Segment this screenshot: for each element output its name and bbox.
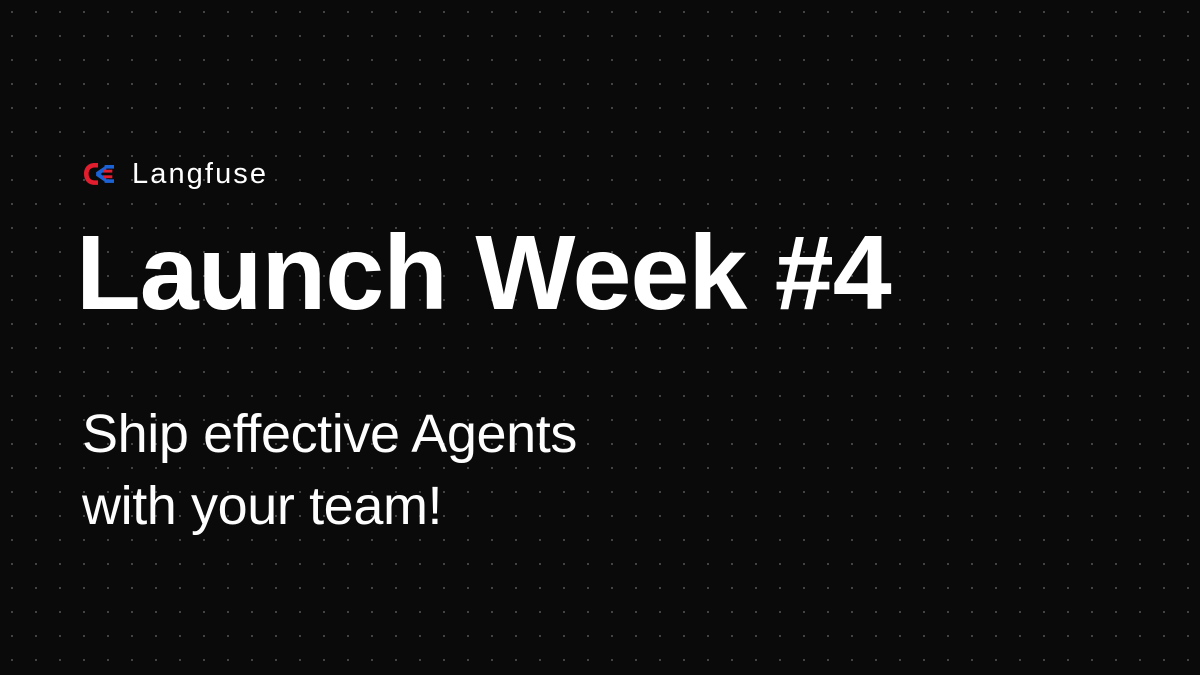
brand-name: Langfuse xyxy=(132,160,268,189)
brand-lockup: Langfuse xyxy=(82,152,268,196)
hero-subtitle-line-1: Ship effective Agents xyxy=(82,398,577,470)
launch-week-hero-slide: Langfuse Launch Week #4 Ship effective A… xyxy=(0,0,1200,675)
hero-content: Langfuse Launch Week #4 Ship effective A… xyxy=(82,0,1142,675)
langfuse-logo-icon xyxy=(82,161,116,187)
page-title: Launch Week #4 xyxy=(76,216,891,330)
hero-subtitle-line-2: with your team! xyxy=(82,470,577,542)
hero-subtitle: Ship effective Agents with your team! xyxy=(82,398,577,542)
